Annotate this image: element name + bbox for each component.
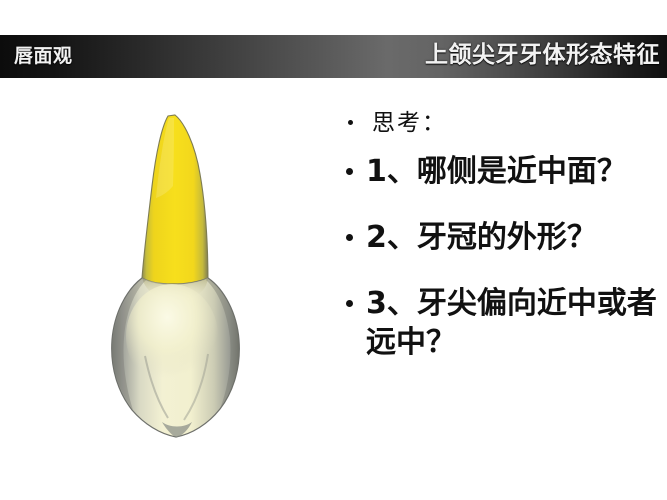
tooth-diagram-svg xyxy=(96,100,276,440)
list-item-label: 2、牙冠的外形？ xyxy=(366,218,663,257)
bullet-dot-icon xyxy=(346,300,353,307)
list-item-prompt: 思考： xyxy=(338,108,663,138)
bullet-dot-icon xyxy=(346,168,353,175)
list-item-label: 3、牙尖偏向近中或者远中？ xyxy=(366,284,663,362)
list-item-question-3: 3、牙尖偏向近中或者远中？ xyxy=(338,284,663,362)
header-bar: 唇面观 上颌尖牙牙体形态特征 xyxy=(0,35,667,78)
header-right-title: 上颌尖牙牙体形态特征 xyxy=(425,41,660,69)
list-item-question-1: 1、哪侧是近中面？ xyxy=(338,152,663,191)
tooth-root xyxy=(142,115,208,287)
question-list: 思考： 1、哪侧是近中面？ 2、牙冠的外形？ 3、牙尖偏向近中或者远中？ xyxy=(338,108,663,362)
list-item-label: 1、哪侧是近中面？ xyxy=(366,152,663,191)
tooth-illustration xyxy=(96,100,276,440)
slide-canvas: 唇面观 上颌尖牙牙体形态特征 xyxy=(0,0,667,500)
bullet-dot-icon xyxy=(346,234,353,241)
header-left-title: 唇面观 xyxy=(14,44,73,68)
list-item-label: 思考： xyxy=(372,108,663,138)
bullet-dot-icon xyxy=(348,120,353,125)
list-item-question-2: 2、牙冠的外形？ xyxy=(338,218,663,257)
